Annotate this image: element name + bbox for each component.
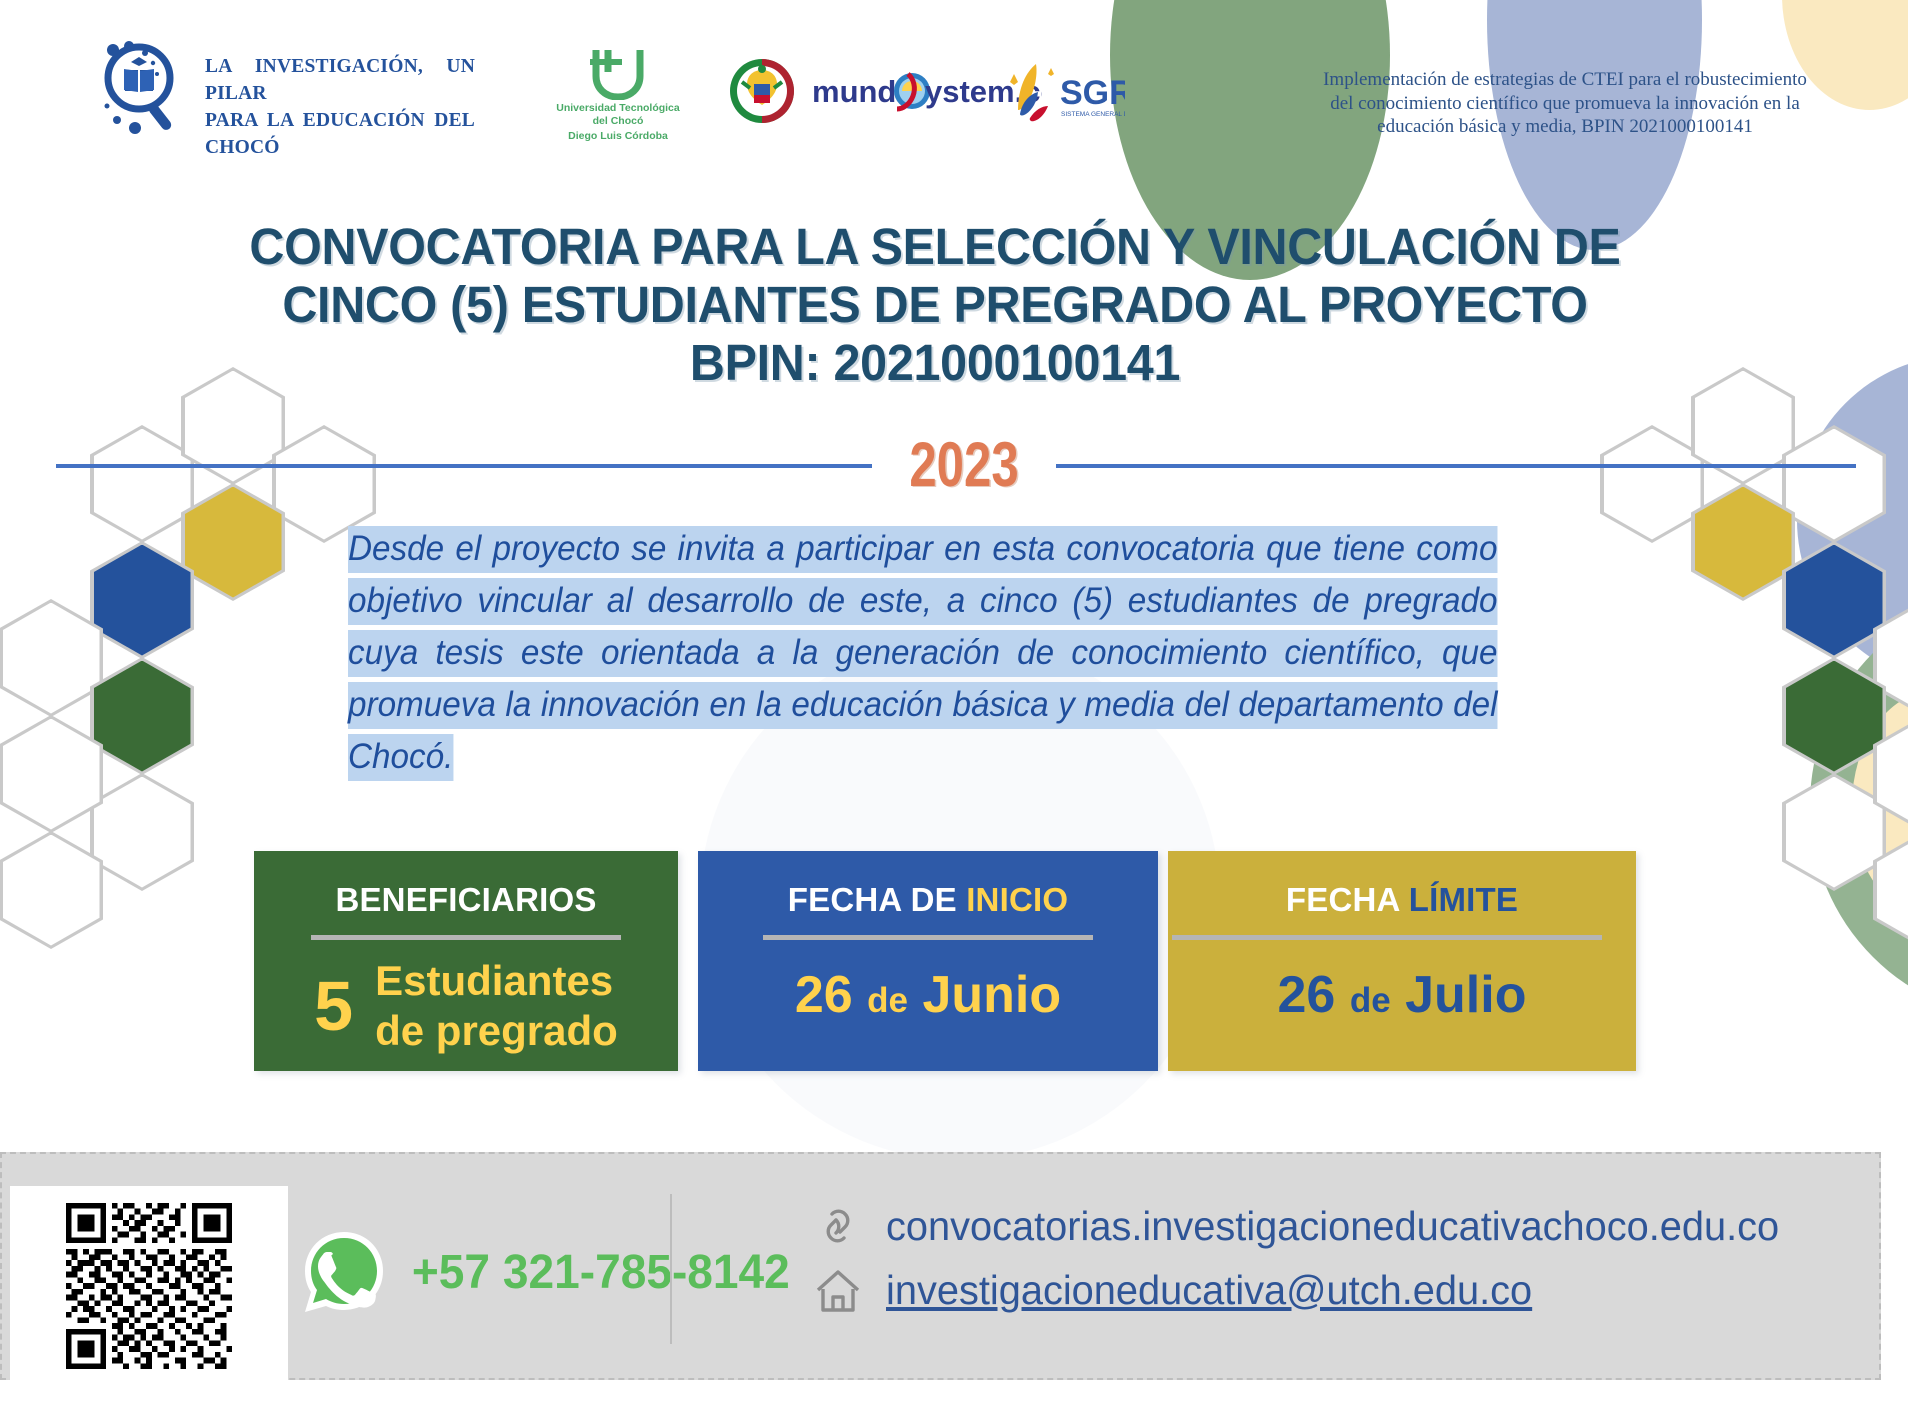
fecha-inicio-date: 26 de Junio xyxy=(795,956,1061,1040)
description-text: Desde el proyecto se invita a participar… xyxy=(348,526,1498,781)
fecha-limite-connector: de xyxy=(1350,981,1391,1020)
qr-code-image xyxy=(27,1203,271,1369)
website-url: convocatorias.investigacioneducativachoc… xyxy=(886,1203,1779,1250)
page-title: CONVOCATORIA PARA LA SELECCIÓN Y VINCULA… xyxy=(60,218,1810,392)
fecha-inicio-month: Junio xyxy=(922,966,1061,1024)
title-line-2: CINCO (5) ESTUDIANTES DE PREGRADO AL PRO… xyxy=(104,276,1767,334)
divider-rule-left xyxy=(56,464,872,468)
title-line-3: BPIN: 2021000100141 xyxy=(104,334,1767,392)
beneficiarios-label-line1: Estudiantes xyxy=(375,956,618,1006)
fecha-limite-value: 26 de Julio xyxy=(1168,956,1636,1040)
hexagon-green xyxy=(1782,657,1886,775)
bottom-white-bar xyxy=(0,1380,1908,1406)
beneficiarios-heading: BENEFICIARIOS xyxy=(254,881,678,919)
fecha-inicio-day: 26 xyxy=(795,966,853,1024)
utch-caption-line2: Diego Luis Córdoba xyxy=(553,130,683,143)
hexagon-outline xyxy=(0,599,103,717)
home-icon xyxy=(812,1264,864,1316)
email-row[interactable]: investigacioneducativa@utch.edu.co xyxy=(812,1258,1807,1322)
fecha-limite-rule xyxy=(1172,935,1602,940)
fecha-inicio-heading-plain: FECHA DE xyxy=(788,881,966,918)
contact-links: convocatorias.investigacioneducativachoc… xyxy=(812,1194,1807,1322)
email-address: investigacioneducativa@utch.edu.co xyxy=(886,1267,1532,1314)
fecha-inicio-value: 26 de Junio xyxy=(698,956,1158,1040)
whatsapp-number: +57 321-785-8142 xyxy=(412,1245,790,1300)
link-chain-icon xyxy=(812,1200,864,1252)
whatsapp-icon xyxy=(298,1226,390,1318)
fecha-inicio-heading-accent: INICIO xyxy=(966,881,1068,918)
fecha-limite-date: 26 de Julio xyxy=(1278,956,1527,1040)
header-bar: LA INVESTIGACIÓN, UN PILAR PARA LA EDUCA… xyxy=(0,0,1908,175)
fecha-inicio-rule xyxy=(763,935,1093,940)
svg-text:mund: mund xyxy=(812,74,896,109)
hexagon-outline xyxy=(0,715,103,833)
fecha-inicio-heading: FECHA DE INICIO xyxy=(698,881,1158,919)
hexagon-blue xyxy=(1782,541,1886,659)
info-boxes: BENEFICIARIOS 5 Estudiantes de pregrado … xyxy=(0,851,1908,1076)
fecha-inicio-connector: de xyxy=(867,981,908,1020)
beneficiarios-heading-text: BENEFICIARIOS xyxy=(335,881,596,918)
hexagon-gold xyxy=(1691,483,1795,601)
year-divider: 2023 xyxy=(0,430,1908,500)
divider-rule-right xyxy=(1056,464,1856,468)
title-line-1: CONVOCATORIA PARA LA SELECCIÓN Y VINCULA… xyxy=(104,218,1767,276)
utch-mark-icon xyxy=(588,48,648,100)
whatsapp-contact[interactable]: +57 321-785-8142 xyxy=(298,1226,798,1318)
brand-tagline-line2: PARA LA EDUCACIÓN DEL CHOCÓ xyxy=(205,107,475,161)
magnifier-book-logo-icon xyxy=(95,36,187,136)
fecha-limite-month: Julio xyxy=(1405,966,1526,1024)
beneficiarios-rule xyxy=(311,935,621,940)
svg-text:SISTEMA GENERAL DE REGALÍAS: SISTEMA GENERAL DE REGALÍAS xyxy=(1061,109,1125,118)
utch-logo: Universidad Tecnológica del Chocó Diego … xyxy=(553,48,683,143)
sgr-logo: SGR SISTEMA GENERAL DE REGALÍAS xyxy=(1000,52,1125,130)
info-box-fecha-limite: FECHA LÍMITE 26 de Julio xyxy=(1168,851,1636,1071)
brand-tagline-line1: LA INVESTIGACIÓN, UN PILAR xyxy=(205,53,475,107)
project-description: Implementación de estrategias de CTEI pa… xyxy=(1315,68,1815,139)
beneficiarios-value: 5 Estudiantes de pregrado xyxy=(254,956,678,1056)
poster-canvas: LA INVESTIGACIÓN, UN PILAR PARA LA EDUCA… xyxy=(0,0,1908,1406)
hexagon-gold xyxy=(181,483,285,601)
colombia-coat-of-arms-icon xyxy=(728,56,796,126)
beneficiarios-label: Estudiantes de pregrado xyxy=(375,956,618,1056)
hexagon-blue xyxy=(90,541,194,659)
info-box-fecha-inicio: FECHA DE INICIO 26 de Junio xyxy=(698,851,1158,1071)
fecha-limite-heading: FECHA LÍMITE xyxy=(1168,881,1636,919)
fecha-limite-heading-plain: FECHA xyxy=(1286,881,1409,918)
qr-code[interactable] xyxy=(10,1186,288,1386)
brand-tagline: LA INVESTIGACIÓN, UN PILAR PARA LA EDUCA… xyxy=(205,53,475,161)
beneficiarios-label-line2: de pregrado xyxy=(375,1006,618,1056)
utch-caption-line1: Universidad Tecnológica del Chocó xyxy=(553,102,683,128)
svg-text:SGR: SGR xyxy=(1060,74,1125,112)
website-row[interactable]: convocatorias.investigacioneducativachoc… xyxy=(812,1194,1807,1258)
fecha-limite-heading-accent: LÍMITE xyxy=(1409,881,1518,918)
year-label: 2023 xyxy=(892,430,1036,500)
footer-divider xyxy=(670,1194,672,1344)
fecha-limite-day: 26 xyxy=(1278,966,1336,1024)
contact-footer: +57 321-785-8142 convocatorias.investiga… xyxy=(0,1152,1881,1380)
beneficiarios-number: 5 xyxy=(314,967,353,1045)
hexagon-green xyxy=(90,657,194,775)
description-block: Desde el proyecto se invita a participar… xyxy=(348,523,1558,783)
info-box-beneficiarios: BENEFICIARIOS 5 Estudiantes de pregrado xyxy=(254,851,678,1071)
